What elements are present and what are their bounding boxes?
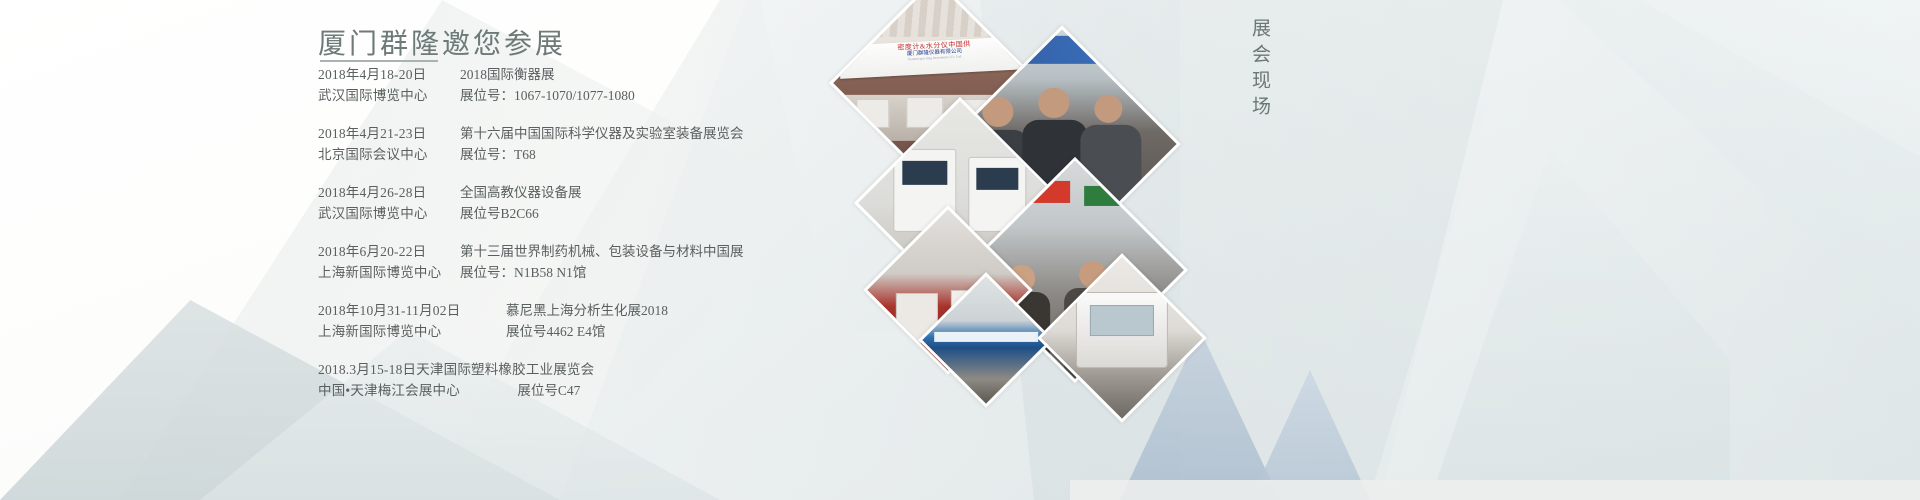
title-underline	[320, 60, 438, 62]
event-booth: 展位号：T68	[446, 144, 536, 165]
event-name: 慕尼黑上海分析生化展2018	[492, 300, 668, 321]
event-venue: 上海新国际博览中心	[318, 262, 446, 283]
event-booth: 展位号C47	[503, 380, 580, 401]
event-name: 2018国际衡器展	[446, 64, 555, 85]
instrument-screen	[902, 161, 948, 185]
event-booth: 展位号：1067-1070/1077-1080	[446, 85, 635, 106]
photo-collage: 密度计&水分仪中国供 厦门群隆仪器有限公司 Xiamen qun long in…	[830, 0, 1230, 420]
event-date: 2018年6月20-22日	[318, 241, 446, 262]
event-date: 2018年4月21-23日	[318, 123, 446, 144]
banner-content: 厦门群隆邀您参展 2018年4月18-20日 2018国际衡器展 武汉国际博览中…	[0, 0, 1920, 500]
event-name: 全国高教仪器设备展	[446, 182, 582, 203]
person-head	[1095, 95, 1123, 123]
event-date: 2018年4月26-28日	[318, 182, 446, 203]
event-date: 2018.3月15-18日天津国际塑料橡胶工业展览会	[318, 359, 594, 380]
event-booth: 展位号4462 E4馆	[492, 321, 605, 342]
event-venue: 北京国际会议中心	[318, 144, 446, 165]
event-venue: 中国•天津梅江会展中心	[318, 380, 500, 401]
event-name: 第十三届世界制药机械、包装设备与材料中国展	[446, 241, 744, 262]
event-name: 第十六届中国国际科学仪器及实验室装备展览会	[446, 123, 744, 144]
vertical-section-label: 展会现场	[1246, 18, 1273, 122]
stand-label	[934, 332, 1038, 342]
person-head	[983, 97, 1013, 127]
booth-product-1	[856, 100, 889, 129]
event-booth: 展位号：N1B58 N1馆	[446, 262, 586, 283]
event-venue: 武汉国际博览中心	[318, 203, 446, 224]
booth-sign: 密度计&水分仪中国供 厦门群隆仪器有限公司 Xiamen qun long in…	[839, 37, 1031, 80]
page-title: 厦门群隆邀您参展	[318, 22, 566, 62]
booth-ceiling	[831, 0, 1038, 37]
event-booth: 展位号B2C66	[446, 203, 539, 224]
machine-window	[1090, 305, 1155, 336]
instrument-screen	[976, 169, 1019, 191]
machine-unit	[1076, 292, 1168, 368]
event-venue: 上海新国际博览中心	[318, 321, 492, 342]
event-date: 2018年10月31-11月02日	[318, 300, 492, 321]
person-head	[1039, 88, 1069, 118]
event-date: 2018年4月18-20日	[318, 64, 446, 85]
event-venue: 武汉国际博览中心	[318, 85, 446, 106]
